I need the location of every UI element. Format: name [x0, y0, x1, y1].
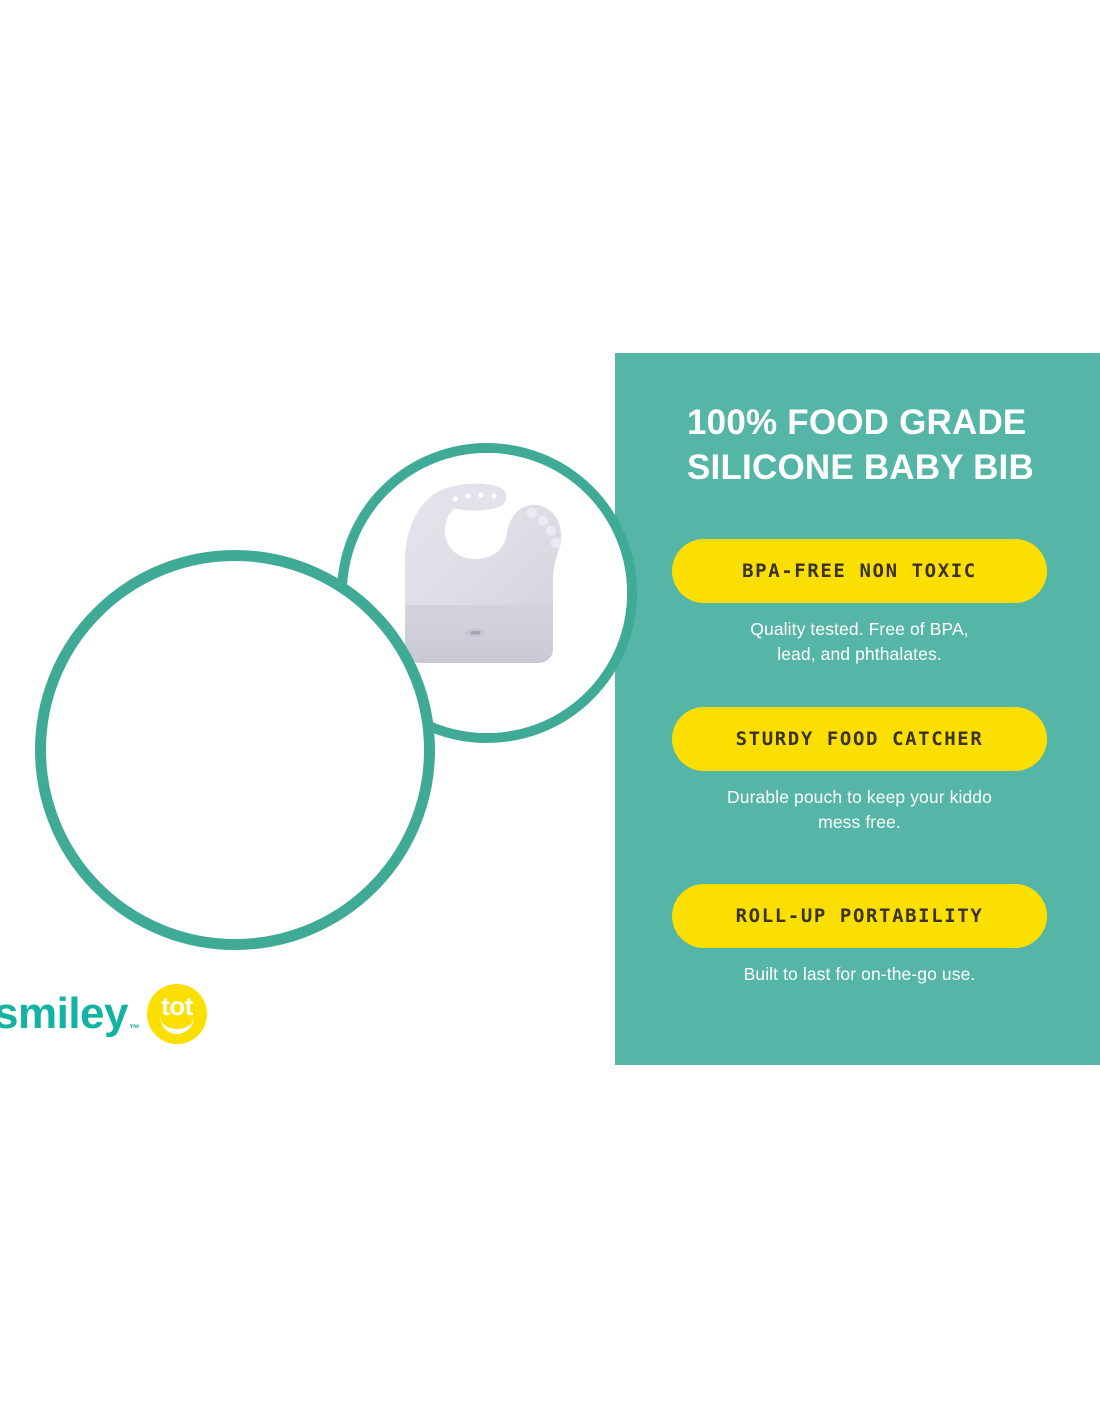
feature-pill-bpa-free[interactable]: BPA-FREE NON TOXIC — [672, 539, 1047, 603]
feature-pill-food-catcher[interactable]: STURDY FOOD CATCHER — [672, 707, 1047, 771]
feature-caption-food-catcher: Durable pouch to keep your kiddo mess fr… — [672, 785, 1047, 835]
product-infographic: 100% FOOD GRADE SILICONE BABY BIB BPA-FR… — [0, 0, 1100, 1422]
feature-item-bpa-free: BPA-FREE NON TOXIC Quality tested. Free … — [672, 539, 1047, 667]
feature-item-food-catcher: STURDY FOOD CATCHER Durable pouch to kee… — [672, 707, 1047, 835]
feature-pill-portability[interactable]: ROLL-UP PORTABILITY — [672, 884, 1047, 948]
smile-icon — [160, 1012, 194, 1034]
page-title: 100% FOOD GRADE SILICONE BABY BIB — [687, 401, 1087, 491]
lifestyle-photo-circle: smiley — [35, 550, 435, 950]
caption-line: Built to last for on-the-go use. — [672, 962, 1047, 987]
caption-line: Quality tested. Free of BPA, — [672, 617, 1047, 642]
feature-caption-portability: Built to last for on-the-go use. — [672, 962, 1047, 987]
trademark-symbol: ™ — [129, 1023, 140, 1035]
feature-panel: 100% FOOD GRADE SILICONE BABY BIB BPA-FR… — [615, 353, 1100, 1065]
feature-caption-bpa-free: Quality tested. Free of BPA, lead, and p… — [672, 617, 1047, 667]
caption-line: lead, and phthalates. — [672, 642, 1047, 667]
brand-logo[interactable]: smiley ™ tot — [0, 985, 207, 1043]
caption-line: mess free. — [672, 810, 1047, 835]
lifestyle-circle-ring — [35, 550, 435, 950]
headline-line-1: 100% FOOD GRADE — [687, 401, 1087, 446]
feature-item-portability: ROLL-UP PORTABILITY Built to last for on… — [672, 884, 1047, 987]
headline-line-2: SILICONE BABY BIB — [687, 446, 1087, 491]
caption-line: Durable pouch to keep your kiddo — [672, 785, 1047, 810]
logo-smiley-badge: tot — [147, 984, 207, 1044]
logo-wordmark: smiley — [0, 992, 128, 1036]
